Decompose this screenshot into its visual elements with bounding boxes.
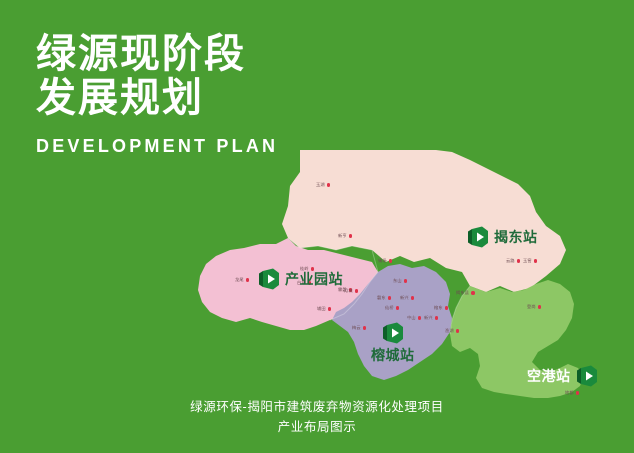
town-label: 埔田 — [317, 306, 326, 312]
town-label: 揭东县 — [456, 290, 469, 296]
station-label-konggang: 空港站 — [527, 366, 571, 386]
town-dot-icon — [355, 289, 359, 293]
town-dot-icon — [246, 278, 250, 282]
town-marker: 玉湖 — [316, 182, 330, 188]
town-dot-icon — [388, 296, 392, 300]
lvyuan-logo-icon — [383, 322, 403, 344]
title-block: 绿源现阶段 发展规划 DEVELOPMENT PLAN — [36, 32, 278, 157]
town-label: 登岗 — [527, 304, 536, 310]
caption-line-2: 产业布局图示 — [0, 417, 634, 437]
town-marker: 月城 — [344, 288, 358, 294]
town-label: 锡场 — [378, 258, 387, 264]
town-marker: 东山 — [393, 278, 407, 284]
town-dot-icon — [445, 306, 449, 310]
town-marker: 登岗 — [527, 304, 541, 310]
town-label: 仙桥 — [385, 305, 394, 311]
town-dot-icon — [435, 316, 439, 320]
lvyuan-logo-icon — [259, 268, 279, 290]
town-dot-icon — [328, 307, 332, 311]
town-dot-icon — [538, 305, 542, 309]
town-label: 新兴 — [400, 295, 409, 301]
town-marker: 梅云 — [352, 325, 366, 331]
town-dot-icon — [363, 326, 367, 330]
town-marker: 龙尾 — [235, 277, 249, 283]
town-label: 玉窖 — [523, 258, 532, 264]
town-marker: 新兴 — [424, 315, 438, 321]
town-label: 东山 — [393, 278, 402, 284]
town-dot-icon — [349, 234, 353, 238]
station-marker-rongcheng[interactable]: 榕城站 — [371, 322, 415, 365]
slide-canvas: 绿源现阶段 发展规划 DEVELOPMENT PLAN 揭东站 产业园站 — [0, 0, 634, 453]
town-marker: 锡场 — [378, 258, 392, 264]
town-dot-icon — [456, 329, 460, 333]
town-label: 月城 — [344, 288, 353, 294]
town-marker: 磐东 — [377, 295, 391, 301]
town-label: 榕东 — [434, 305, 443, 311]
town-dot-icon — [396, 306, 400, 310]
title-line-1: 绿源现阶段 — [36, 32, 278, 76]
town-label: 中山 — [407, 315, 416, 321]
town-marker: 云路 — [506, 258, 520, 264]
town-dot-icon — [404, 279, 408, 283]
town-label: 云路 — [506, 258, 515, 264]
town-label: 新亨 — [338, 233, 347, 239]
town-dot-icon — [576, 391, 580, 395]
town-label: 梅云 — [352, 325, 361, 331]
town-dot-icon — [389, 259, 393, 263]
town-dot-icon — [411, 296, 415, 300]
town-marker: 渔湖 — [445, 328, 459, 334]
town-marker: 仙桥 — [385, 305, 399, 311]
town-dot-icon — [418, 316, 422, 320]
town-label: 渔湖 — [445, 328, 454, 334]
town-marker: 新亨 — [338, 233, 352, 239]
station-label-jiedong: 揭东站 — [494, 227, 538, 247]
title-line-2: 发展规划 — [36, 76, 278, 120]
station-marker-chanyeyuan[interactable]: 产业园站 — [259, 268, 343, 290]
town-dot-icon — [471, 291, 475, 295]
subtitle-development-plan: DEVELOPMENT PLAN — [36, 136, 278, 157]
lvyuan-logo-icon — [577, 365, 597, 387]
town-marker: 埔田 — [317, 306, 331, 312]
town-label: 地都 — [565, 390, 574, 396]
town-label: 玉湖 — [316, 182, 325, 188]
station-label-rongcheng: 榕城站 — [371, 345, 415, 365]
town-label: 磐东 — [377, 295, 386, 301]
town-dot-icon — [517, 259, 521, 263]
town-marker: 地都 — [565, 390, 579, 396]
town-label: 龙尾 — [235, 277, 244, 283]
town-marker: 新兴 — [400, 295, 414, 301]
station-marker-konggang[interactable]: 空港站 — [527, 365, 597, 387]
town-label: 新兴 — [424, 315, 433, 321]
caption-line-1: 绿源环保-揭阳市建筑废弃物资源化处理项目 — [0, 397, 634, 417]
caption-block: 绿源环保-揭阳市建筑废弃物资源化处理项目 产业布局图示 — [0, 397, 634, 437]
station-label-chanyeyuan: 产业园站 — [285, 269, 343, 289]
station-marker-jiedong[interactable]: 揭东站 — [468, 226, 538, 248]
lvyuan-logo-icon — [468, 226, 488, 248]
town-marker: 玉窖 — [523, 258, 537, 264]
town-dot-icon — [327, 183, 331, 187]
town-marker: 榕东 — [434, 305, 448, 311]
town-marker: 揭东县 — [456, 290, 475, 296]
town-marker: 中山 — [407, 315, 421, 321]
town-dot-icon — [534, 259, 538, 263]
